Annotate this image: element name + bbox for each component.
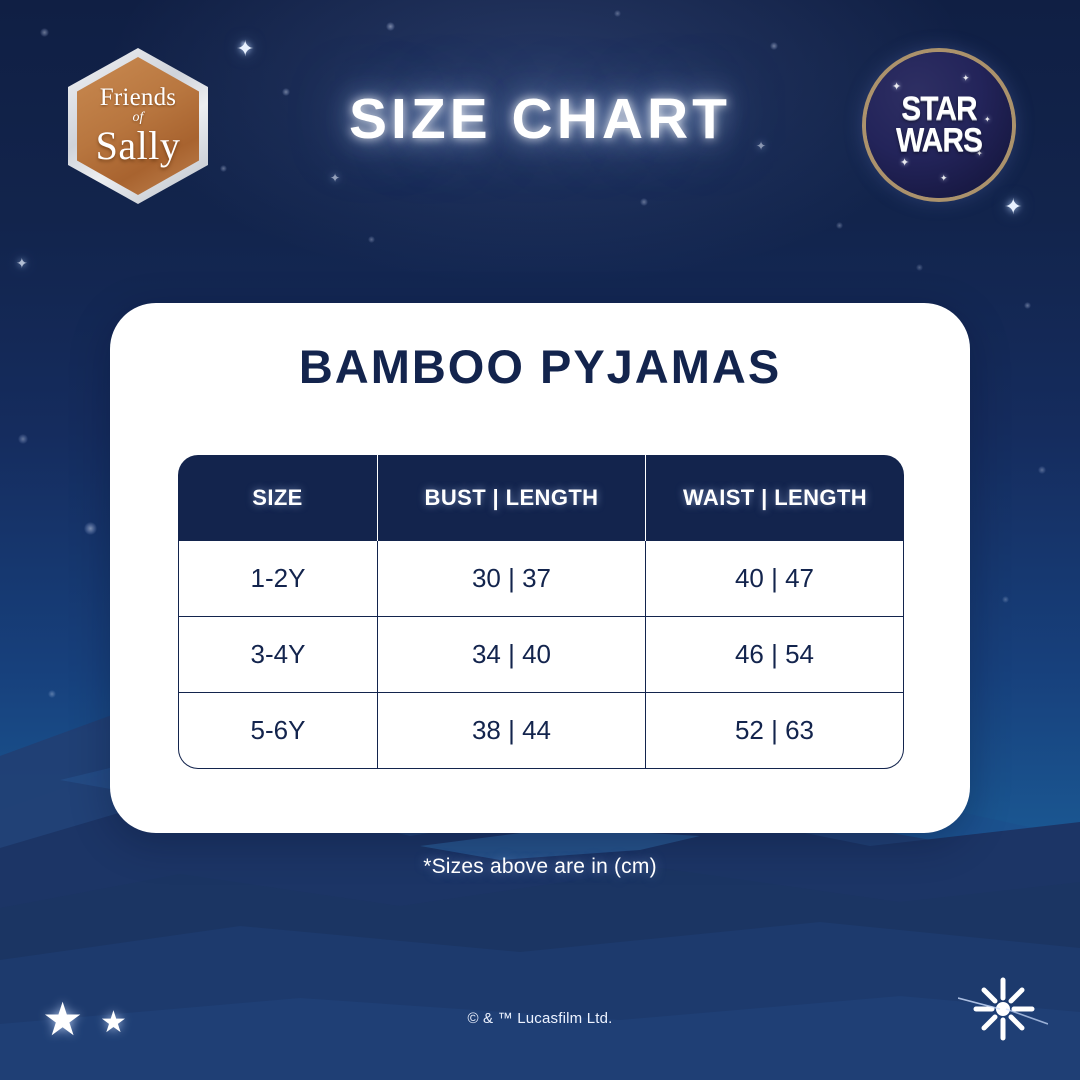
star-dot [836,222,843,229]
star-dot [640,198,648,206]
badge-star: ✦ [900,158,909,169]
cell-bust: 38 | 44 [378,693,646,769]
size-table: SIZE BUST | LENGTH WAIST | LENGTH 1-2Y 3… [178,455,904,769]
star-dot [18,434,28,444]
product-title: BAMBOO PYJAMAS [110,339,970,394]
star-dot [614,10,621,17]
table-row: 3-4Y 34 | 40 46 | 54 [178,617,904,693]
column-header-bust: BUST | LENGTH [378,455,646,541]
sparkle-icon: ✦ [236,38,254,60]
cell-bust: 34 | 40 [378,617,646,693]
star-wars-wordmark: STAR WARS [896,94,982,156]
star-dot [1024,302,1031,309]
star-dot [770,42,778,50]
table-row: 5-6Y 38 | 44 52 | 63 [178,693,904,769]
sparkle-icon: ✦ [330,172,340,184]
cell-bust: 30 | 37 [378,541,646,617]
table-header-row: SIZE BUST | LENGTH WAIST | LENGTH [178,455,904,541]
star-dot [220,165,227,172]
star-dot [916,264,923,271]
units-note: *Sizes above are in (cm) [0,855,1080,879]
sparkle-icon: ✦ [16,256,28,270]
star-dot [48,690,56,698]
sparkle-icon [958,968,1048,1048]
star-dot [1002,596,1009,603]
column-header-waist: WAIST | LENGTH [646,455,904,541]
cell-waist: 52 | 63 [646,693,904,769]
cell-size: 1-2Y [178,541,378,617]
star-dot [84,522,97,535]
cell-waist: 40 | 47 [646,541,904,617]
star-dot [368,236,375,243]
star-dot [1038,466,1046,474]
sparkle-icon: ✦ [1004,196,1022,218]
size-chart-poster: ✦ ✦ ✦ ✦ ✦ Friends of Sally ✦ ✦ ✦ ✦ ✦ ✦ S… [0,0,1080,1080]
star-wars-line-1: STAR [901,94,976,125]
star-icon: ★ [42,996,83,1042]
star-wars-line-2: WARS [896,125,982,156]
table-row: 1-2Y 30 | 37 40 | 47 [178,541,904,617]
badge-star: ✦ [940,174,948,183]
star-icon: ★ [100,1008,127,1038]
copyright-notice: © & ™ Lucasfilm Ltd. [0,1010,1080,1027]
star-dot [40,28,49,37]
size-chart-card: BAMBOO PYJAMAS SIZE BUST | LENGTH WAIST … [110,303,970,833]
star-dot [386,22,395,31]
badge-star: ✦ [962,74,970,83]
cell-waist: 46 | 54 [646,617,904,693]
cell-size: 3-4Y [178,617,378,693]
cell-size: 5-6Y [178,693,378,769]
column-header-size: SIZE [178,455,378,541]
